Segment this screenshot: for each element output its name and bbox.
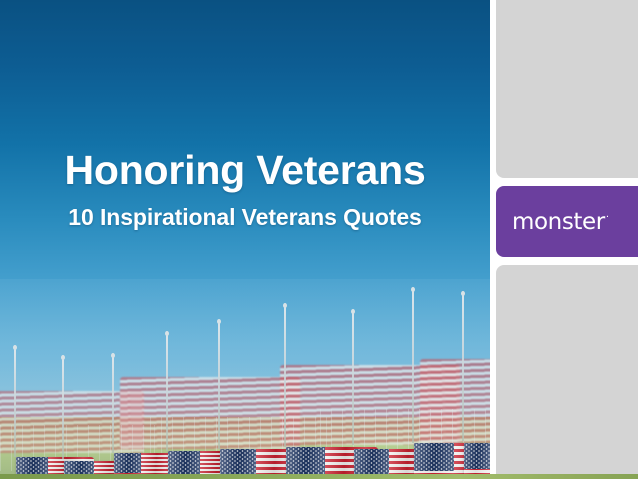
title-block: Honoring Veterans 10 Inspirational Veter… bbox=[0, 148, 490, 231]
slide-title: Honoring Veterans bbox=[0, 148, 490, 192]
sidebar-panel-bottom bbox=[496, 265, 638, 474]
monster-logo-wordmark: monster· bbox=[512, 209, 609, 235]
bottom-grass-strip bbox=[0, 474, 638, 479]
monster-logo-text: monster bbox=[512, 209, 605, 235]
american-flag-field bbox=[0, 279, 490, 479]
slide-subtitle: 10 Inspirational Veterans Quotes bbox=[0, 205, 490, 231]
slide-background-photo: Honoring Veterans 10 Inspirational Veter… bbox=[0, 0, 490, 479]
registered-trademark-icon: · bbox=[606, 212, 609, 223]
sidebar-panel-top bbox=[496, 0, 638, 178]
sidebar: monster· bbox=[490, 0, 638, 479]
presentation-slide: Honoring Veterans 10 Inspirational Veter… bbox=[0, 0, 638, 479]
monster-logo-panel[interactable]: monster· bbox=[496, 186, 638, 257]
